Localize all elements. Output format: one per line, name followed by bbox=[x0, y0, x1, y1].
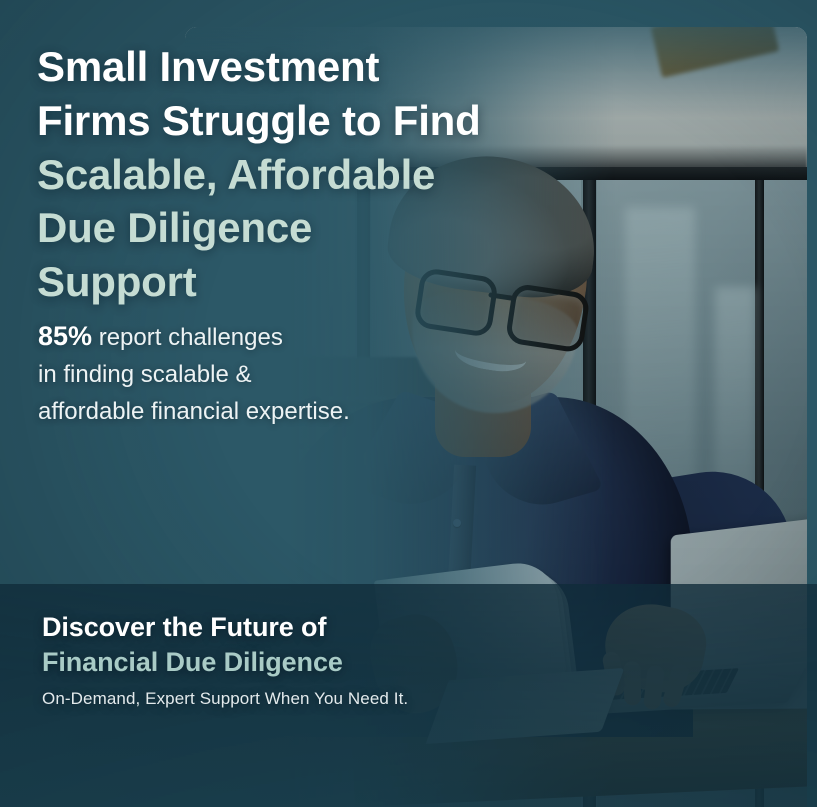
stat-number: 85% bbox=[38, 321, 92, 351]
statistic-block: 85% report challenges in finding scalabl… bbox=[38, 316, 438, 430]
cta-tagline: On-Demand, Expert Support When You Need … bbox=[42, 689, 602, 709]
cta-block: Discover the Future of Financial Due Dil… bbox=[42, 612, 602, 709]
headline-line-3: Scalable, Affordable bbox=[37, 148, 557, 202]
headline-line-5: Support bbox=[37, 255, 557, 309]
headline-line-4: Due Diligence bbox=[37, 201, 557, 255]
headline-line-1: Small Investment bbox=[37, 40, 557, 94]
ad-creative: Small Investment Firms Struggle to Find … bbox=[0, 0, 817, 807]
headline-line-2: Firms Struggle to Find bbox=[37, 94, 557, 148]
cta-line-2: Financial Due Diligence bbox=[42, 647, 602, 678]
stat-line-3: affordable financial expertise. bbox=[38, 394, 438, 430]
stat-line-1-rest: report challenges bbox=[92, 324, 283, 351]
cta-line-1: Discover the Future of bbox=[42, 612, 602, 643]
stat-line-2: in finding scalable & bbox=[38, 357, 438, 393]
text-layer: Small Investment Firms Struggle to Find … bbox=[0, 0, 817, 807]
stat-line-1: 85% report challenges bbox=[38, 316, 438, 357]
headline: Small Investment Firms Struggle to Find … bbox=[37, 40, 557, 309]
